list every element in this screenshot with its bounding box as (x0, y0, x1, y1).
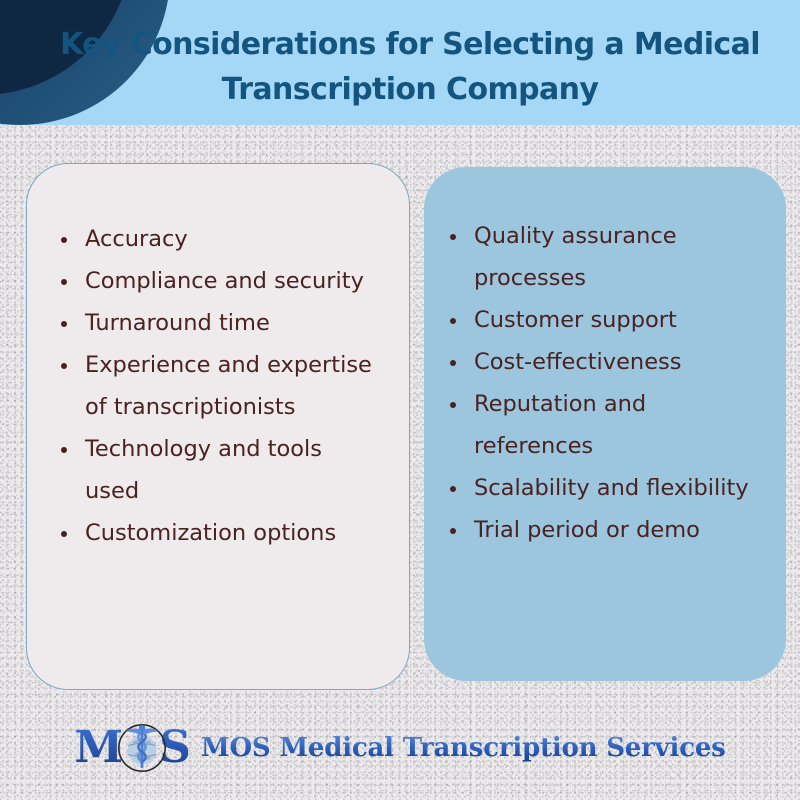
list-item: Scalability and flexibility (442, 467, 772, 509)
list-item: Trial period or demo (442, 509, 772, 551)
company-wordmark: MOS Medical Transcription Services (201, 733, 726, 763)
list-item: Customization options (53, 512, 383, 554)
list-item: Technology and tools used (53, 428, 383, 512)
considerations-panel-left: Accuracy Compliance and security Turnaro… (26, 163, 410, 690)
considerations-panel-right: Quality assurance processes Customer sup… (424, 167, 786, 681)
footer-branding: M S (0, 712, 800, 784)
list-item: Cost-effectiveness (442, 341, 772, 383)
logo-letter-m: M (74, 726, 123, 770)
list-item: Turnaround time (53, 302, 383, 344)
list-item: Compliance and security (53, 260, 383, 302)
list-item: Reputation and references (442, 383, 772, 467)
list-item: Experience and expertise of transcriptio… (53, 344, 383, 428)
header-band: Key Considerations for Selecting a Medic… (0, 0, 800, 125)
list-item: Quality assurance processes (442, 215, 772, 299)
infographic-poster: Key Considerations for Selecting a Medic… (0, 0, 800, 800)
list-item: Customer support (442, 299, 772, 341)
list-item: Accuracy (53, 218, 383, 260)
considerations-list-right: Quality assurance processes Customer sup… (442, 215, 772, 551)
mos-logo: M S (74, 717, 191, 779)
caduceus-globe-icon (117, 723, 167, 773)
page-title: Key Considerations for Selecting a Medic… (60, 22, 760, 112)
considerations-list-left: Accuracy Compliance and security Turnaro… (53, 218, 383, 554)
